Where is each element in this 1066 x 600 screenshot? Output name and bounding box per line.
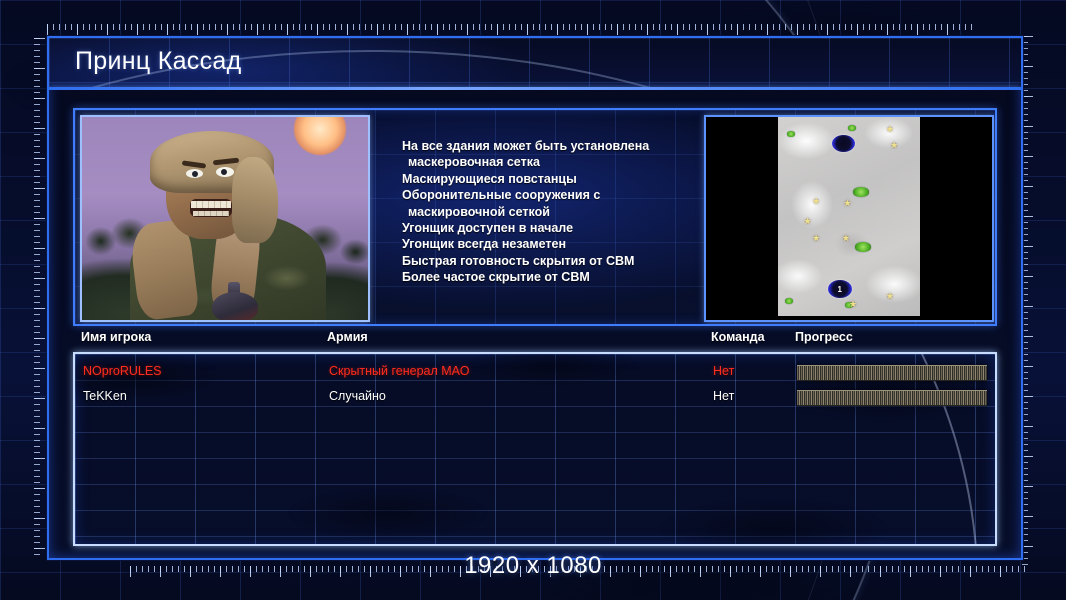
portrait-pupil-left — [192, 171, 198, 177]
player-team[interactable]: Нет — [713, 389, 734, 403]
sun-icon — [294, 117, 346, 155]
map-resource-marker — [855, 242, 871, 252]
map-start-position — [832, 135, 855, 152]
title-underline — [49, 87, 1021, 90]
column-header-progress: Прогресс — [795, 330, 853, 344]
player-army[interactable]: Скрытный генерал МАО — [329, 364, 469, 378]
map-resource-marker — [848, 125, 856, 131]
description-line: маскировочной сеткой — [402, 204, 702, 220]
map-object-marker: ★ — [842, 234, 850, 243]
resolution-label: 1920 x 1080 — [0, 552, 1066, 580]
map-object-marker: ★ — [849, 300, 857, 309]
description-line: Быстрая готовность скрытия от СВМ — [402, 253, 702, 269]
window-titlebar: Принц Кассад — [49, 38, 1021, 90]
description-line: Маскирующиеся повстанцы — [402, 171, 702, 187]
portrait-headwrap-side — [232, 157, 278, 243]
description-line: На все здания может быть установлена — [402, 138, 702, 154]
map-resource-marker — [787, 131, 795, 137]
map-object-marker: ★ — [886, 125, 894, 134]
description-line: Более частое скрытие от СВМ — [402, 269, 702, 285]
general-portrait — [82, 117, 368, 320]
portrait-flask — [212, 292, 258, 320]
player-army[interactable]: Случайно — [329, 389, 386, 403]
player-name: TeKKen — [83, 389, 127, 403]
map-object-marker: ★ — [804, 217, 812, 226]
map-object-marker: ★ — [890, 141, 898, 150]
map-object-marker: ★ — [886, 292, 894, 301]
player-row[interactable]: TeKKenСлучайноНет — [75, 385, 995, 410]
page-title: Принц Кассад — [75, 47, 241, 76]
map-object-marker: ★ — [812, 234, 820, 243]
player-team[interactable]: Нет — [713, 364, 734, 378]
portrait-teeth-upper — [191, 201, 231, 208]
map-resource-marker — [853, 187, 869, 197]
map-start-position: 1 — [828, 280, 852, 298]
portrait-mouth — [190, 199, 232, 217]
player-row[interactable]: NOproRULESСкрытный генерал МАОНет — [75, 360, 995, 385]
map-preview: ★★★★★★★★★1 — [778, 117, 920, 316]
map-object-marker: ★ — [812, 197, 820, 206]
map-object-marker: ★ — [843, 199, 851, 208]
description-line: маскеровочная сетка — [402, 154, 702, 170]
column-header-name: Имя игрока — [81, 330, 151, 344]
game-lobby-screen: Принц Кассад — [0, 0, 1066, 600]
description-line: Оборонительные сооружения с — [402, 187, 702, 203]
player-name: NOproRULES — [83, 364, 162, 378]
column-header-army: Армия — [327, 330, 368, 344]
general-info-panel: На все здания может быть установленамаск… — [73, 108, 997, 326]
description-line: Угонщик всегда незаметен — [402, 236, 702, 252]
map-resource-marker — [785, 298, 793, 304]
player-progress-bar — [797, 390, 987, 406]
general-description: На все здания может быть установленамаск… — [402, 138, 702, 286]
player-list-panel: NOproRULESСкрытный генерал МАОНетTeKKenС… — [73, 352, 997, 546]
player-list-header: Имя игрока Армия Команда Прогресс — [73, 330, 993, 352]
description-line: Угонщик доступен в начале — [402, 220, 702, 236]
lobby-window: Принц Кассад — [47, 36, 1023, 560]
map-preview-frame[interactable]: ★★★★★★★★★1 — [704, 115, 994, 322]
player-progress-bar — [797, 365, 987, 381]
portrait-pupil-right — [221, 169, 227, 175]
portrait-teeth-lower — [193, 211, 229, 216]
column-header-team: Команда — [711, 330, 765, 344]
general-portrait-frame — [80, 115, 370, 322]
